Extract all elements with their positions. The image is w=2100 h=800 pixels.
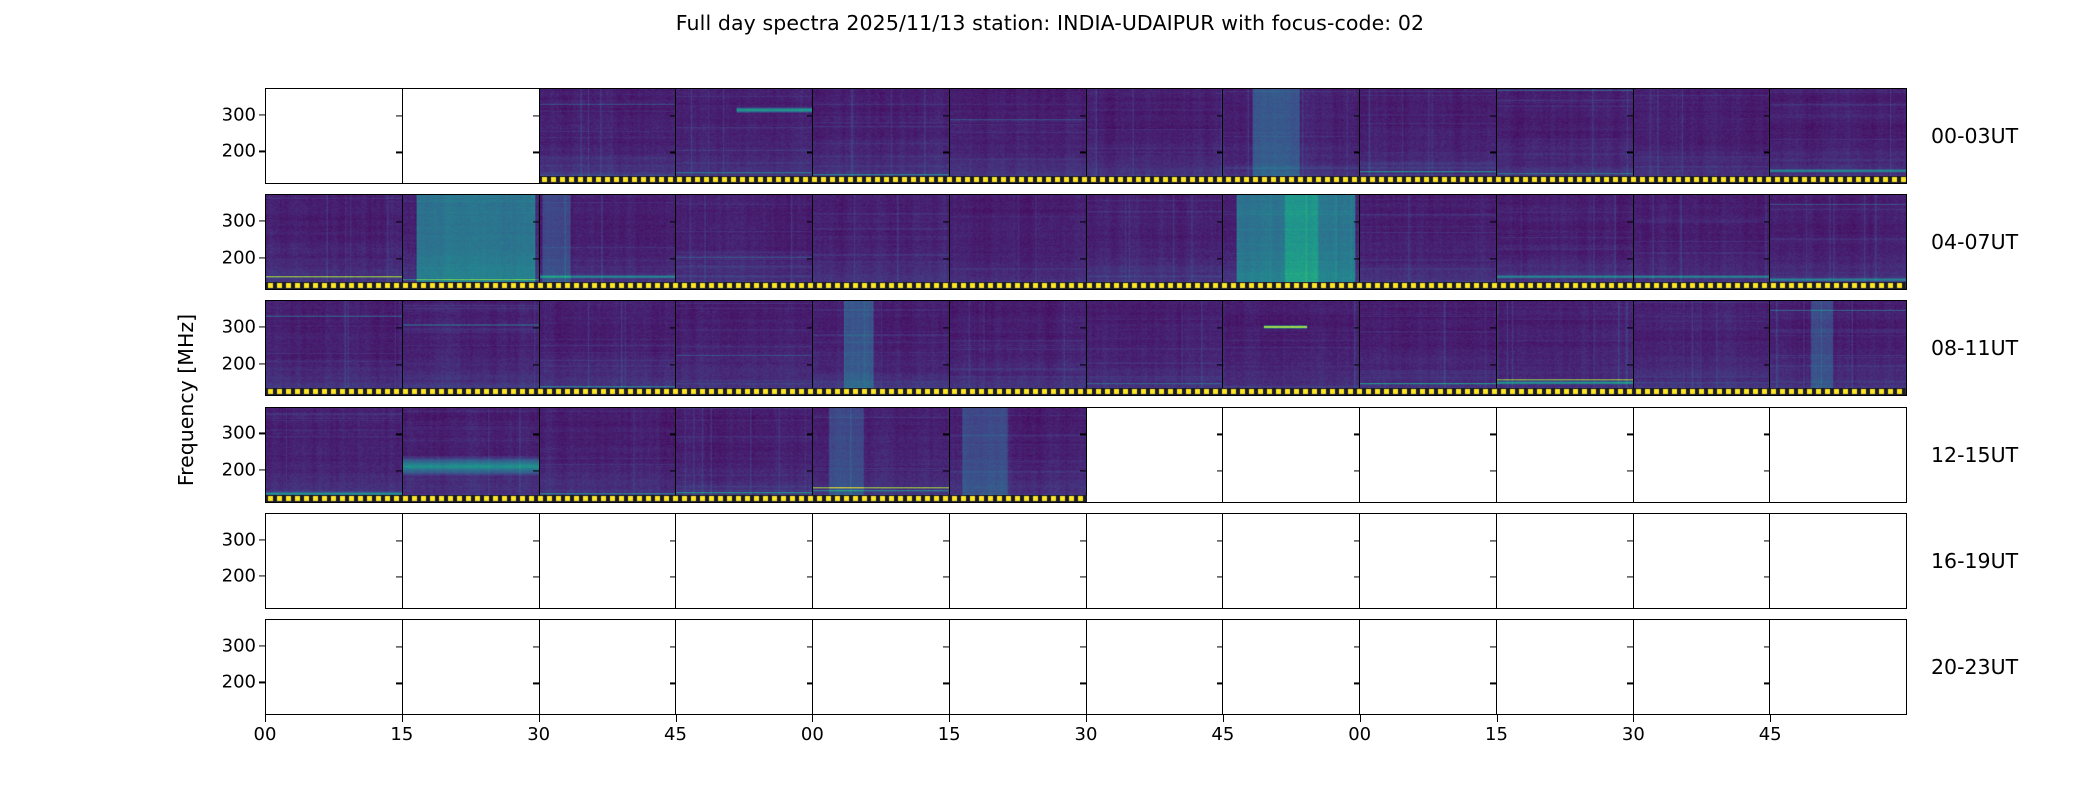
row-time-label: 12-15UT bbox=[1907, 443, 2018, 467]
y-tick-mark bbox=[1354, 646, 1360, 647]
spectrogram-image bbox=[1087, 195, 1223, 289]
y-tick-mark bbox=[396, 152, 402, 153]
row-panels bbox=[266, 89, 1906, 183]
spectrogram-panel[interactable] bbox=[266, 408, 403, 502]
spectrogram-image bbox=[676, 195, 812, 289]
empty-panel[interactable] bbox=[1634, 620, 1771, 714]
empty-panel[interactable] bbox=[1360, 514, 1497, 608]
spectrogram-image bbox=[1360, 89, 1496, 183]
spectrogram-image bbox=[540, 408, 676, 502]
y-tick-mark bbox=[1217, 152, 1223, 153]
y-tick-mark bbox=[670, 258, 676, 259]
y-tick-mark bbox=[259, 151, 266, 152]
x-tick-mark bbox=[1360, 715, 1361, 722]
y-tick-mark bbox=[1490, 540, 1496, 541]
spectrogram-panel[interactable] bbox=[403, 301, 540, 395]
x-tick-mark bbox=[539, 715, 540, 722]
row-time-label: 00-03UT bbox=[1907, 124, 2018, 148]
y-tick-mark bbox=[533, 577, 539, 578]
y-tick-mark bbox=[1764, 328, 1770, 329]
y-tick-mark bbox=[1217, 258, 1223, 259]
spectrogram-image bbox=[813, 195, 949, 289]
y-tick-mark bbox=[1490, 258, 1496, 259]
y-tick-mark bbox=[1490, 328, 1496, 329]
row-panels bbox=[266, 195, 1906, 289]
y-tick-mark bbox=[1354, 328, 1360, 329]
spectrogram-image bbox=[540, 89, 676, 183]
x-tick-mark bbox=[1086, 715, 1087, 722]
y-tick-mark bbox=[533, 646, 539, 647]
y-tick-mark bbox=[1764, 540, 1770, 541]
y-tick-mark bbox=[396, 364, 402, 365]
y-tick-mark bbox=[1764, 470, 1770, 471]
spectrogram-panel[interactable] bbox=[676, 301, 813, 395]
y-tick-mark bbox=[1354, 115, 1360, 116]
y-tick-mark bbox=[259, 469, 266, 470]
spectrogram-panel[interactable] bbox=[1223, 301, 1360, 395]
spectrogram-panel[interactable] bbox=[1223, 89, 1360, 183]
y-tick-mark bbox=[807, 328, 813, 329]
spectrogram-panel[interactable] bbox=[540, 301, 677, 395]
empty-panel[interactable] bbox=[403, 89, 540, 183]
spectrogram-image bbox=[950, 301, 1086, 395]
spectrogram-row-04-07ut[interactable] bbox=[265, 194, 1907, 290]
y-tick-mark bbox=[1490, 115, 1496, 116]
spectrogram-panel[interactable] bbox=[813, 195, 950, 289]
y-tick-mark bbox=[1490, 646, 1496, 647]
spectrogram-row-16-19ut[interactable] bbox=[265, 513, 1907, 609]
y-tick-mark bbox=[943, 434, 949, 435]
y-tick-mark bbox=[1490, 221, 1496, 222]
spectrogram-panel[interactable] bbox=[813, 301, 950, 395]
spectrogram-image bbox=[1634, 195, 1770, 289]
y-tick-mark bbox=[1627, 115, 1633, 116]
spectrogram-image bbox=[950, 89, 1086, 183]
empty-panel[interactable] bbox=[1770, 620, 1906, 714]
y-tick-mark bbox=[943, 470, 949, 471]
x-tick-mark bbox=[265, 715, 266, 722]
y-tick-mark bbox=[396, 540, 402, 541]
y-tick-mark bbox=[1764, 577, 1770, 578]
y-tick-mark bbox=[1354, 258, 1360, 259]
spectrogram-panel[interactable] bbox=[1497, 195, 1634, 289]
y-tick-mark bbox=[943, 364, 949, 365]
spectrogram-panel[interactable] bbox=[266, 195, 403, 289]
y-tick-mark bbox=[533, 683, 539, 684]
empty-panel[interactable] bbox=[813, 514, 950, 608]
empty-panel[interactable] bbox=[1770, 514, 1906, 608]
y-tick-mark bbox=[396, 221, 402, 222]
empty-panel[interactable] bbox=[676, 620, 813, 714]
y-tick-mark bbox=[259, 363, 266, 364]
empty-panel[interactable] bbox=[1634, 514, 1771, 608]
spectrogram-panel[interactable] bbox=[1087, 195, 1224, 289]
spectrogram-image bbox=[1223, 195, 1359, 289]
spectrogram-image bbox=[266, 301, 402, 395]
y-tick-mark bbox=[1627, 683, 1633, 684]
spectrogram-image bbox=[1360, 301, 1496, 395]
y-tick-mark bbox=[1354, 364, 1360, 365]
y-tick-mark bbox=[259, 576, 266, 577]
y-tick-mark bbox=[396, 683, 402, 684]
y-tick-mark bbox=[943, 328, 949, 329]
spectrogram-panel[interactable] bbox=[1223, 195, 1360, 289]
spectrogram-panel[interactable] bbox=[1087, 301, 1224, 395]
y-tick-mark bbox=[1217, 364, 1223, 365]
y-axis-label: Frequency [MHz] bbox=[174, 314, 198, 486]
y-tick-mark bbox=[396, 470, 402, 471]
spectrogram-panel[interactable] bbox=[813, 408, 950, 502]
y-tick-mark bbox=[1080, 470, 1086, 471]
x-tick-mark bbox=[1770, 715, 1771, 722]
y-tick-mark bbox=[1764, 115, 1770, 116]
x-tick-mark bbox=[949, 715, 950, 722]
spectrogram-panel[interactable] bbox=[1634, 301, 1771, 395]
y-tick-mark bbox=[1627, 646, 1633, 647]
y-tick-mark bbox=[533, 328, 539, 329]
y-tick-mark bbox=[1764, 364, 1770, 365]
spectrogram-image bbox=[950, 408, 1086, 502]
y-tick-mark bbox=[807, 221, 813, 222]
y-tick-mark bbox=[259, 114, 266, 115]
spectrogram-image bbox=[266, 408, 402, 502]
y-tick-mark bbox=[807, 577, 813, 578]
y-tick-mark bbox=[1627, 364, 1633, 365]
y-tick-mark bbox=[1627, 328, 1633, 329]
y-tick-mark bbox=[1217, 646, 1223, 647]
y-tick-mark bbox=[533, 470, 539, 471]
spectrogram-image bbox=[1223, 89, 1359, 183]
spectrogram-image bbox=[1087, 301, 1223, 395]
spectrogram-image bbox=[813, 301, 949, 395]
spectrogram-row-08-11ut[interactable] bbox=[265, 300, 1907, 396]
spectrogram-image bbox=[540, 301, 676, 395]
y-tick-mark bbox=[533, 364, 539, 365]
y-tick-mark bbox=[1627, 221, 1633, 222]
y-tick-mark bbox=[1354, 540, 1360, 541]
spectrogram-image bbox=[676, 301, 812, 395]
spectrogram-image bbox=[1634, 89, 1770, 183]
y-tick-mark bbox=[670, 540, 676, 541]
empty-panel[interactable] bbox=[266, 514, 403, 608]
spectrogram-image bbox=[1223, 301, 1359, 395]
y-tick-mark bbox=[1080, 152, 1086, 153]
spectrogram-panel[interactable] bbox=[1497, 89, 1634, 183]
row-panels bbox=[266, 301, 1906, 395]
spectrogram-image bbox=[813, 89, 949, 183]
y-tick-mark bbox=[1217, 221, 1223, 222]
y-tick-mark bbox=[1764, 221, 1770, 222]
y-tick-mark bbox=[1490, 683, 1496, 684]
spectrogram-panel[interactable] bbox=[676, 195, 813, 289]
spectrogram-image bbox=[1770, 89, 1906, 183]
spectrogram-panel[interactable] bbox=[403, 408, 540, 502]
spectrogram-image bbox=[403, 301, 539, 395]
y-tick-mark bbox=[1080, 115, 1086, 116]
spectrogram-figure: Full day spectra 2025/11/13 station: IND… bbox=[0, 0, 2100, 800]
y-tick-mark bbox=[1490, 364, 1496, 365]
empty-panel[interactable] bbox=[540, 514, 677, 608]
empty-panel[interactable] bbox=[403, 514, 540, 608]
y-tick-mark bbox=[807, 364, 813, 365]
y-tick-mark bbox=[1490, 434, 1496, 435]
y-tick-mark bbox=[1490, 577, 1496, 578]
y-tick-mark bbox=[1627, 258, 1633, 259]
spectrogram-panel[interactable] bbox=[813, 89, 950, 183]
y-tick-mark bbox=[670, 470, 676, 471]
y-tick-mark bbox=[533, 221, 539, 222]
y-tick-mark bbox=[1764, 646, 1770, 647]
spectrogram-image bbox=[1087, 89, 1223, 183]
empty-panel[interactable] bbox=[676, 514, 813, 608]
empty-panel[interactable] bbox=[1223, 620, 1360, 714]
empty-panel[interactable] bbox=[1634, 408, 1771, 502]
y-tick-mark bbox=[670, 434, 676, 435]
y-tick-mark bbox=[1080, 328, 1086, 329]
empty-panel[interactable] bbox=[266, 89, 403, 183]
y-tick-mark bbox=[1627, 434, 1633, 435]
y-tick-mark bbox=[670, 646, 676, 647]
x-tick-mark bbox=[402, 715, 403, 722]
y-tick-mark bbox=[1627, 540, 1633, 541]
spectrogram-row-20-23ut[interactable] bbox=[265, 619, 1907, 715]
spectrogram-image bbox=[1497, 89, 1633, 183]
spectrogram-panel[interactable] bbox=[540, 195, 677, 289]
y-tick-mark bbox=[1080, 540, 1086, 541]
empty-panel[interactable] bbox=[1497, 514, 1634, 608]
spectrogram-image bbox=[1497, 301, 1633, 395]
spectrogram-panel[interactable] bbox=[1497, 301, 1634, 395]
spectrogram-panel[interactable] bbox=[950, 89, 1087, 183]
spectrogram-image bbox=[1634, 301, 1770, 395]
spectrogram-image bbox=[676, 89, 812, 183]
y-tick-mark bbox=[1354, 577, 1360, 578]
empty-panel[interactable] bbox=[1223, 514, 1360, 608]
y-tick-mark bbox=[1354, 152, 1360, 153]
y-tick-mark bbox=[670, 115, 676, 116]
y-tick-mark bbox=[259, 682, 266, 683]
spectrogram-image bbox=[1770, 301, 1906, 395]
y-tick-mark bbox=[1764, 434, 1770, 435]
y-tick-mark bbox=[1354, 434, 1360, 435]
x-tick-mark bbox=[812, 715, 813, 722]
y-tick-mark bbox=[670, 152, 676, 153]
spectrogram-panel[interactable] bbox=[403, 195, 540, 289]
spectrogram-row-12-15ut[interactable] bbox=[265, 407, 1907, 503]
y-tick-mark bbox=[1217, 577, 1223, 578]
y-tick-mark bbox=[396, 646, 402, 647]
y-tick-mark bbox=[1080, 434, 1086, 435]
y-tick-mark bbox=[943, 683, 949, 684]
spectrogram-image bbox=[266, 195, 402, 289]
y-tick-mark bbox=[396, 328, 402, 329]
y-tick-mark bbox=[807, 434, 813, 435]
y-tick-mark bbox=[259, 327, 266, 328]
spectrogram-panel[interactable] bbox=[1360, 89, 1497, 183]
spectrogram-panel[interactable] bbox=[1770, 89, 1906, 183]
y-tick-mark bbox=[533, 540, 539, 541]
y-tick-mark bbox=[943, 221, 949, 222]
y-tick-mark bbox=[807, 540, 813, 541]
x-tick-mark bbox=[1223, 715, 1224, 722]
spectrogram-image bbox=[950, 195, 1086, 289]
row-panels bbox=[266, 620, 1906, 714]
row-time-label: 04-07UT bbox=[1907, 230, 2018, 254]
y-tick-mark bbox=[533, 152, 539, 153]
y-tick-mark bbox=[1080, 364, 1086, 365]
y-tick-mark bbox=[670, 364, 676, 365]
spectrogram-image bbox=[813, 408, 949, 502]
spectrogram-panel[interactable] bbox=[1360, 195, 1497, 289]
y-tick-mark bbox=[1490, 152, 1496, 153]
y-tick-mark bbox=[533, 258, 539, 259]
x-tick-mark bbox=[1633, 715, 1634, 722]
y-tick-mark bbox=[1217, 470, 1223, 471]
y-tick-mark bbox=[1080, 258, 1086, 259]
y-tick-mark bbox=[1627, 577, 1633, 578]
y-tick-mark bbox=[1764, 152, 1770, 153]
y-tick-mark bbox=[1080, 221, 1086, 222]
row-panels bbox=[266, 408, 1906, 502]
y-tick-mark bbox=[807, 115, 813, 116]
spectrogram-image bbox=[403, 408, 539, 502]
y-tick-mark bbox=[1627, 470, 1633, 471]
spectrogram-panel[interactable] bbox=[1087, 89, 1224, 183]
y-tick-mark bbox=[943, 540, 949, 541]
spectrogram-image bbox=[1360, 195, 1496, 289]
spectrogram-panel[interactable] bbox=[950, 301, 1087, 395]
spectrogram-panel[interactable] bbox=[1360, 301, 1497, 395]
y-tick-mark bbox=[807, 646, 813, 647]
y-tick-mark bbox=[943, 115, 949, 116]
y-tick-mark bbox=[259, 539, 266, 540]
page-title: Full day spectra 2025/11/13 station: IND… bbox=[0, 11, 2100, 35]
spectrogram-panel[interactable] bbox=[1634, 89, 1771, 183]
y-tick-mark bbox=[259, 221, 266, 222]
row-panels bbox=[266, 514, 1906, 608]
y-tick-mark bbox=[396, 258, 402, 259]
spectrogram-image bbox=[1497, 195, 1633, 289]
y-tick-mark bbox=[943, 152, 949, 153]
empty-panel[interactable] bbox=[1087, 408, 1224, 502]
y-tick-mark bbox=[1627, 152, 1633, 153]
row-time-label: 20-23UT bbox=[1907, 655, 2018, 679]
spectrogram-panel[interactable] bbox=[676, 89, 813, 183]
y-tick-mark bbox=[1217, 328, 1223, 329]
y-tick-mark bbox=[396, 115, 402, 116]
y-tick-mark bbox=[1354, 221, 1360, 222]
y-tick-mark bbox=[1217, 115, 1223, 116]
y-tick-mark bbox=[1217, 683, 1223, 684]
y-tick-mark bbox=[807, 152, 813, 153]
empty-panel[interactable] bbox=[1360, 408, 1497, 502]
y-tick-mark bbox=[533, 115, 539, 116]
y-tick-mark bbox=[1764, 258, 1770, 259]
spectrogram-panel[interactable] bbox=[540, 408, 677, 502]
y-tick-mark bbox=[1354, 470, 1360, 471]
spectrogram-image bbox=[540, 195, 676, 289]
y-tick-mark bbox=[807, 683, 813, 684]
spectrogram-panel[interactable] bbox=[950, 195, 1087, 289]
spectrogram-panel[interactable] bbox=[266, 301, 403, 395]
spectrogram-row-00-03ut[interactable] bbox=[265, 88, 1907, 184]
y-tick-mark bbox=[670, 577, 676, 578]
empty-panel[interactable] bbox=[1223, 408, 1360, 502]
y-tick-mark bbox=[533, 434, 539, 435]
y-tick-mark bbox=[1080, 577, 1086, 578]
y-tick-mark bbox=[670, 221, 676, 222]
y-tick-mark bbox=[1217, 434, 1223, 435]
y-tick-mark bbox=[1764, 683, 1770, 684]
empty-panel[interactable] bbox=[1087, 514, 1224, 608]
empty-panel[interactable] bbox=[1497, 408, 1634, 502]
empty-panel[interactable] bbox=[950, 514, 1087, 608]
y-tick-mark bbox=[1080, 646, 1086, 647]
y-tick-mark bbox=[259, 433, 266, 434]
y-tick-mark bbox=[1490, 470, 1496, 471]
spectrogram-image bbox=[403, 195, 539, 289]
spectrogram-image bbox=[676, 408, 812, 502]
spectrogram-panel[interactable] bbox=[950, 408, 1087, 502]
empty-panel[interactable] bbox=[1497, 620, 1634, 714]
spectrogram-image bbox=[1770, 195, 1906, 289]
y-tick-mark bbox=[943, 258, 949, 259]
x-tick-mark bbox=[676, 715, 677, 722]
empty-panel[interactable] bbox=[1770, 408, 1906, 502]
y-tick-mark bbox=[259, 257, 266, 258]
y-tick-mark bbox=[807, 258, 813, 259]
empty-panel[interactable] bbox=[1360, 620, 1497, 714]
y-tick-mark bbox=[396, 577, 402, 578]
empty-panel[interactable] bbox=[403, 620, 540, 714]
y-tick-mark bbox=[670, 683, 676, 684]
empty-panel[interactable] bbox=[950, 620, 1087, 714]
empty-panel[interactable] bbox=[540, 620, 677, 714]
empty-panel[interactable] bbox=[266, 620, 403, 714]
y-tick-mark bbox=[943, 646, 949, 647]
y-tick-mark bbox=[943, 577, 949, 578]
empty-panel[interactable] bbox=[813, 620, 950, 714]
y-tick-mark bbox=[259, 645, 266, 646]
spectrogram-panel[interactable] bbox=[1770, 301, 1906, 395]
spectrogram-panel[interactable] bbox=[540, 89, 677, 183]
x-tick-mark bbox=[1497, 715, 1498, 722]
y-tick-mark bbox=[396, 434, 402, 435]
spectrogram-panel[interactable] bbox=[1634, 195, 1771, 289]
y-tick-mark bbox=[1080, 683, 1086, 684]
row-time-label: 08-11UT bbox=[1907, 336, 2018, 360]
y-tick-mark bbox=[1217, 540, 1223, 541]
y-tick-mark bbox=[1354, 683, 1360, 684]
spectrogram-panel[interactable] bbox=[1770, 195, 1906, 289]
empty-panel[interactable] bbox=[1087, 620, 1224, 714]
spectrogram-panel[interactable] bbox=[676, 408, 813, 502]
y-tick-mark bbox=[807, 470, 813, 471]
plot-area: 30020000-03UT30020004-07UT30020008-11UT3… bbox=[265, 88, 1907, 715]
y-tick-mark bbox=[670, 328, 676, 329]
row-time-label: 16-19UT bbox=[1907, 549, 2018, 573]
